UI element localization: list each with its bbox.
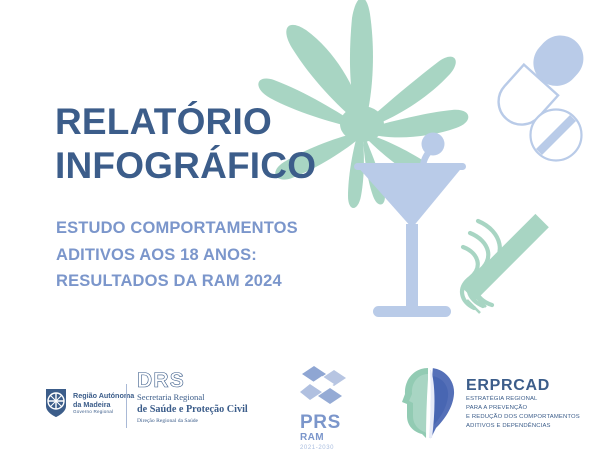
subtitle-line-3: RESULTADOS DA RAM 2024 — [56, 268, 396, 295]
logo-regiao-autonoma-madeira: Região Autónoma da Madeira Governo Regio… — [44, 388, 134, 418]
title-line-1: RELATÓRIO — [55, 100, 385, 144]
logo-drs: DRS Secretaria Regional de Saúde e Prote… — [137, 370, 248, 426]
erprcad-line-4: ADITIVOS E DEPENDÊNCIAS — [466, 422, 580, 431]
cigarette-icon — [462, 214, 549, 313]
pill-tablet-icon — [531, 110, 582, 161]
subtitle-line-1: ESTUDO COMPORTAMENTOS — [56, 215, 396, 242]
logo-erprcad: ERPRCAD ESTRATÉGIA REGIONAL PARA A PREVE… — [400, 366, 580, 442]
page-title: RELATÓRIO INFOGRÁFICO — [55, 100, 385, 187]
erprcad-acronym: ERPRCAD — [466, 377, 580, 395]
erprcad-line-3: E REDUÇÃO DOS COMPORTAMENTOS — [466, 413, 580, 422]
logo-prs-ram: PRS RAM 2021-2030 — [300, 364, 348, 453]
prs-acronym: PRS — [300, 413, 348, 432]
smoke-wisps-icon — [462, 221, 500, 308]
report-cover-page: RELATÓRIO INFOGRÁFICO ESTUDO COMPORTAMEN… — [0, 0, 600, 470]
double-head-profile-icon — [400, 366, 458, 442]
prs-region: RAM — [300, 432, 348, 444]
madeira-coat-of-arms-icon — [44, 388, 68, 418]
subtitle-line-2: ADITIVOS AOS 18 ANOS: — [56, 242, 396, 269]
diamond-pattern-icon — [300, 364, 348, 406]
logo-bar: Região Autónoma da Madeira Governo Regio… — [0, 362, 600, 448]
drs-logo-line-2: de Saúde e Proteção Civil — [137, 403, 248, 417]
erprcad-line-2: PARA A PREVENÇÃO — [466, 404, 580, 413]
logo-divider — [126, 384, 127, 428]
erprcad-line-1: ESTRATÉGIA REGIONAL — [466, 395, 580, 404]
pill-capsule-icon — [489, 26, 593, 134]
drs-logo-line-3: Direção Regional da Saúde — [137, 417, 248, 426]
prs-years: 2021-2030 — [300, 444, 348, 453]
page-subtitle: ESTUDO COMPORTAMENTOS ADITIVOS AOS 18 AN… — [56, 215, 396, 295]
drs-logo-line-1: Secretaria Regional — [137, 391, 248, 403]
drs-acronym: DRS — [137, 370, 248, 391]
title-line-2: INFOGRÁFICO — [55, 144, 385, 188]
